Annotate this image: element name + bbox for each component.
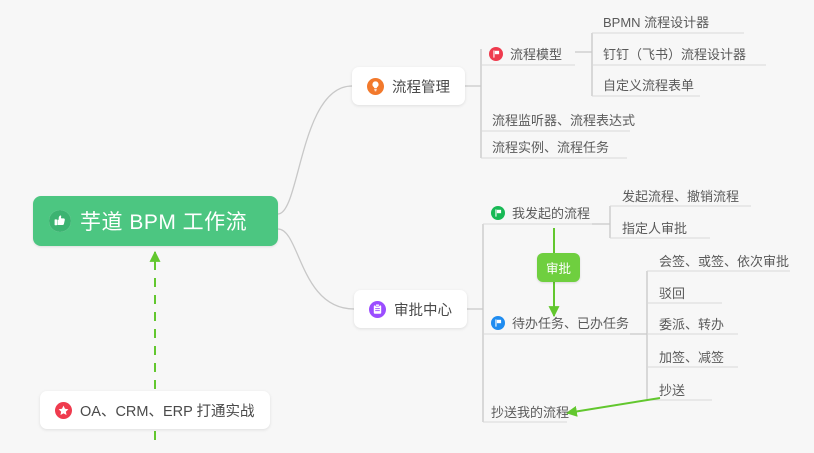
node-label: 委派、转办	[659, 314, 724, 333]
node-label: 待办任务、已办任务	[512, 313, 629, 332]
thumbs-up-icon	[49, 210, 71, 232]
flag-icon	[489, 47, 503, 61]
node-assignee-approval[interactable]: 指定人审批	[622, 218, 687, 241]
node-label: 抄送	[659, 380, 685, 399]
node-label: 流程监听器、流程表达式	[492, 110, 635, 129]
node-add-remove-sign[interactable]: 加签、减签	[659, 347, 724, 370]
node-label: 指定人审批	[622, 218, 687, 237]
node-label: 抄送我的流程	[491, 402, 569, 421]
root-label: 芋道 BPM 工作流	[80, 206, 247, 236]
node-cc-my-process[interactable]: 抄送我的流程	[491, 402, 569, 425]
node-bpmn-designer[interactable]: BPMN 流程设计器	[603, 12, 709, 35]
node-label: 流程实例、流程任务	[492, 137, 609, 156]
node-cc[interactable]: 抄送	[659, 380, 685, 403]
node-reject[interactable]: 驳回	[659, 283, 685, 306]
lightbulb-icon	[367, 78, 384, 95]
node-label: 流程管理	[392, 76, 450, 97]
node-dingtalk-designer[interactable]: 钉钉（飞书）流程设计器	[603, 44, 746, 67]
flag-icon	[491, 316, 505, 330]
approval-badge[interactable]: 审批	[537, 253, 580, 282]
node-process-model[interactable]: 流程模型	[489, 44, 562, 67]
node-my-initiated-process[interactable]: 我发起的流程	[491, 203, 590, 226]
node-custom-form[interactable]: 自定义流程表单	[603, 75, 694, 98]
node-label: 自定义流程表单	[603, 75, 694, 94]
clipboard-icon	[369, 301, 386, 318]
node-oa-crm-erp[interactable]: OA、CRM、ERP 打通实战	[40, 391, 270, 429]
node-label: 驳回	[659, 283, 685, 302]
node-countersign[interactable]: 会签、或签、依次审批	[659, 251, 789, 274]
node-todo-done-tasks[interactable]: 待办任务、已办任务	[491, 313, 629, 336]
wire-root-to-approval-center	[278, 229, 354, 309]
node-label: 加签、减签	[659, 347, 724, 366]
node-label: 钉钉（飞书）流程设计器	[603, 44, 746, 63]
flag-icon	[491, 206, 505, 220]
node-label: BPMN 流程设计器	[603, 12, 709, 31]
node-delegate-transfer[interactable]: 委派、转办	[659, 314, 724, 337]
node-label: 会签、或签、依次审批	[659, 251, 789, 270]
node-instance-task[interactable]: 流程实例、流程任务	[492, 137, 609, 160]
node-label: 审批中心	[394, 299, 452, 320]
approval-badge-label: 审批	[546, 262, 571, 276]
node-label: OA、CRM、ERP 打通实战	[80, 400, 255, 421]
star-icon	[55, 402, 72, 419]
node-approval-center[interactable]: 审批中心	[354, 290, 467, 328]
mindmap-canvas: 芋道 BPM 工作流 流程管理 流程模型 BPMN 流程设计器 钉钉（飞书）流程	[0, 0, 814, 453]
node-process-management[interactable]: 流程管理	[352, 67, 465, 105]
wire-root-to-process-management	[278, 86, 352, 214]
node-label: 流程模型	[510, 44, 562, 63]
node-start-cancel-process[interactable]: 发起流程、撤销流程	[622, 186, 739, 209]
arrow-chaosong-to-ccmyprocess	[567, 398, 660, 413]
node-label: 发起流程、撤销流程	[622, 186, 739, 205]
node-label: 我发起的流程	[512, 203, 590, 222]
root-node[interactable]: 芋道 BPM 工作流	[33, 196, 278, 246]
node-listener-expression[interactable]: 流程监听器、流程表达式	[492, 110, 635, 133]
